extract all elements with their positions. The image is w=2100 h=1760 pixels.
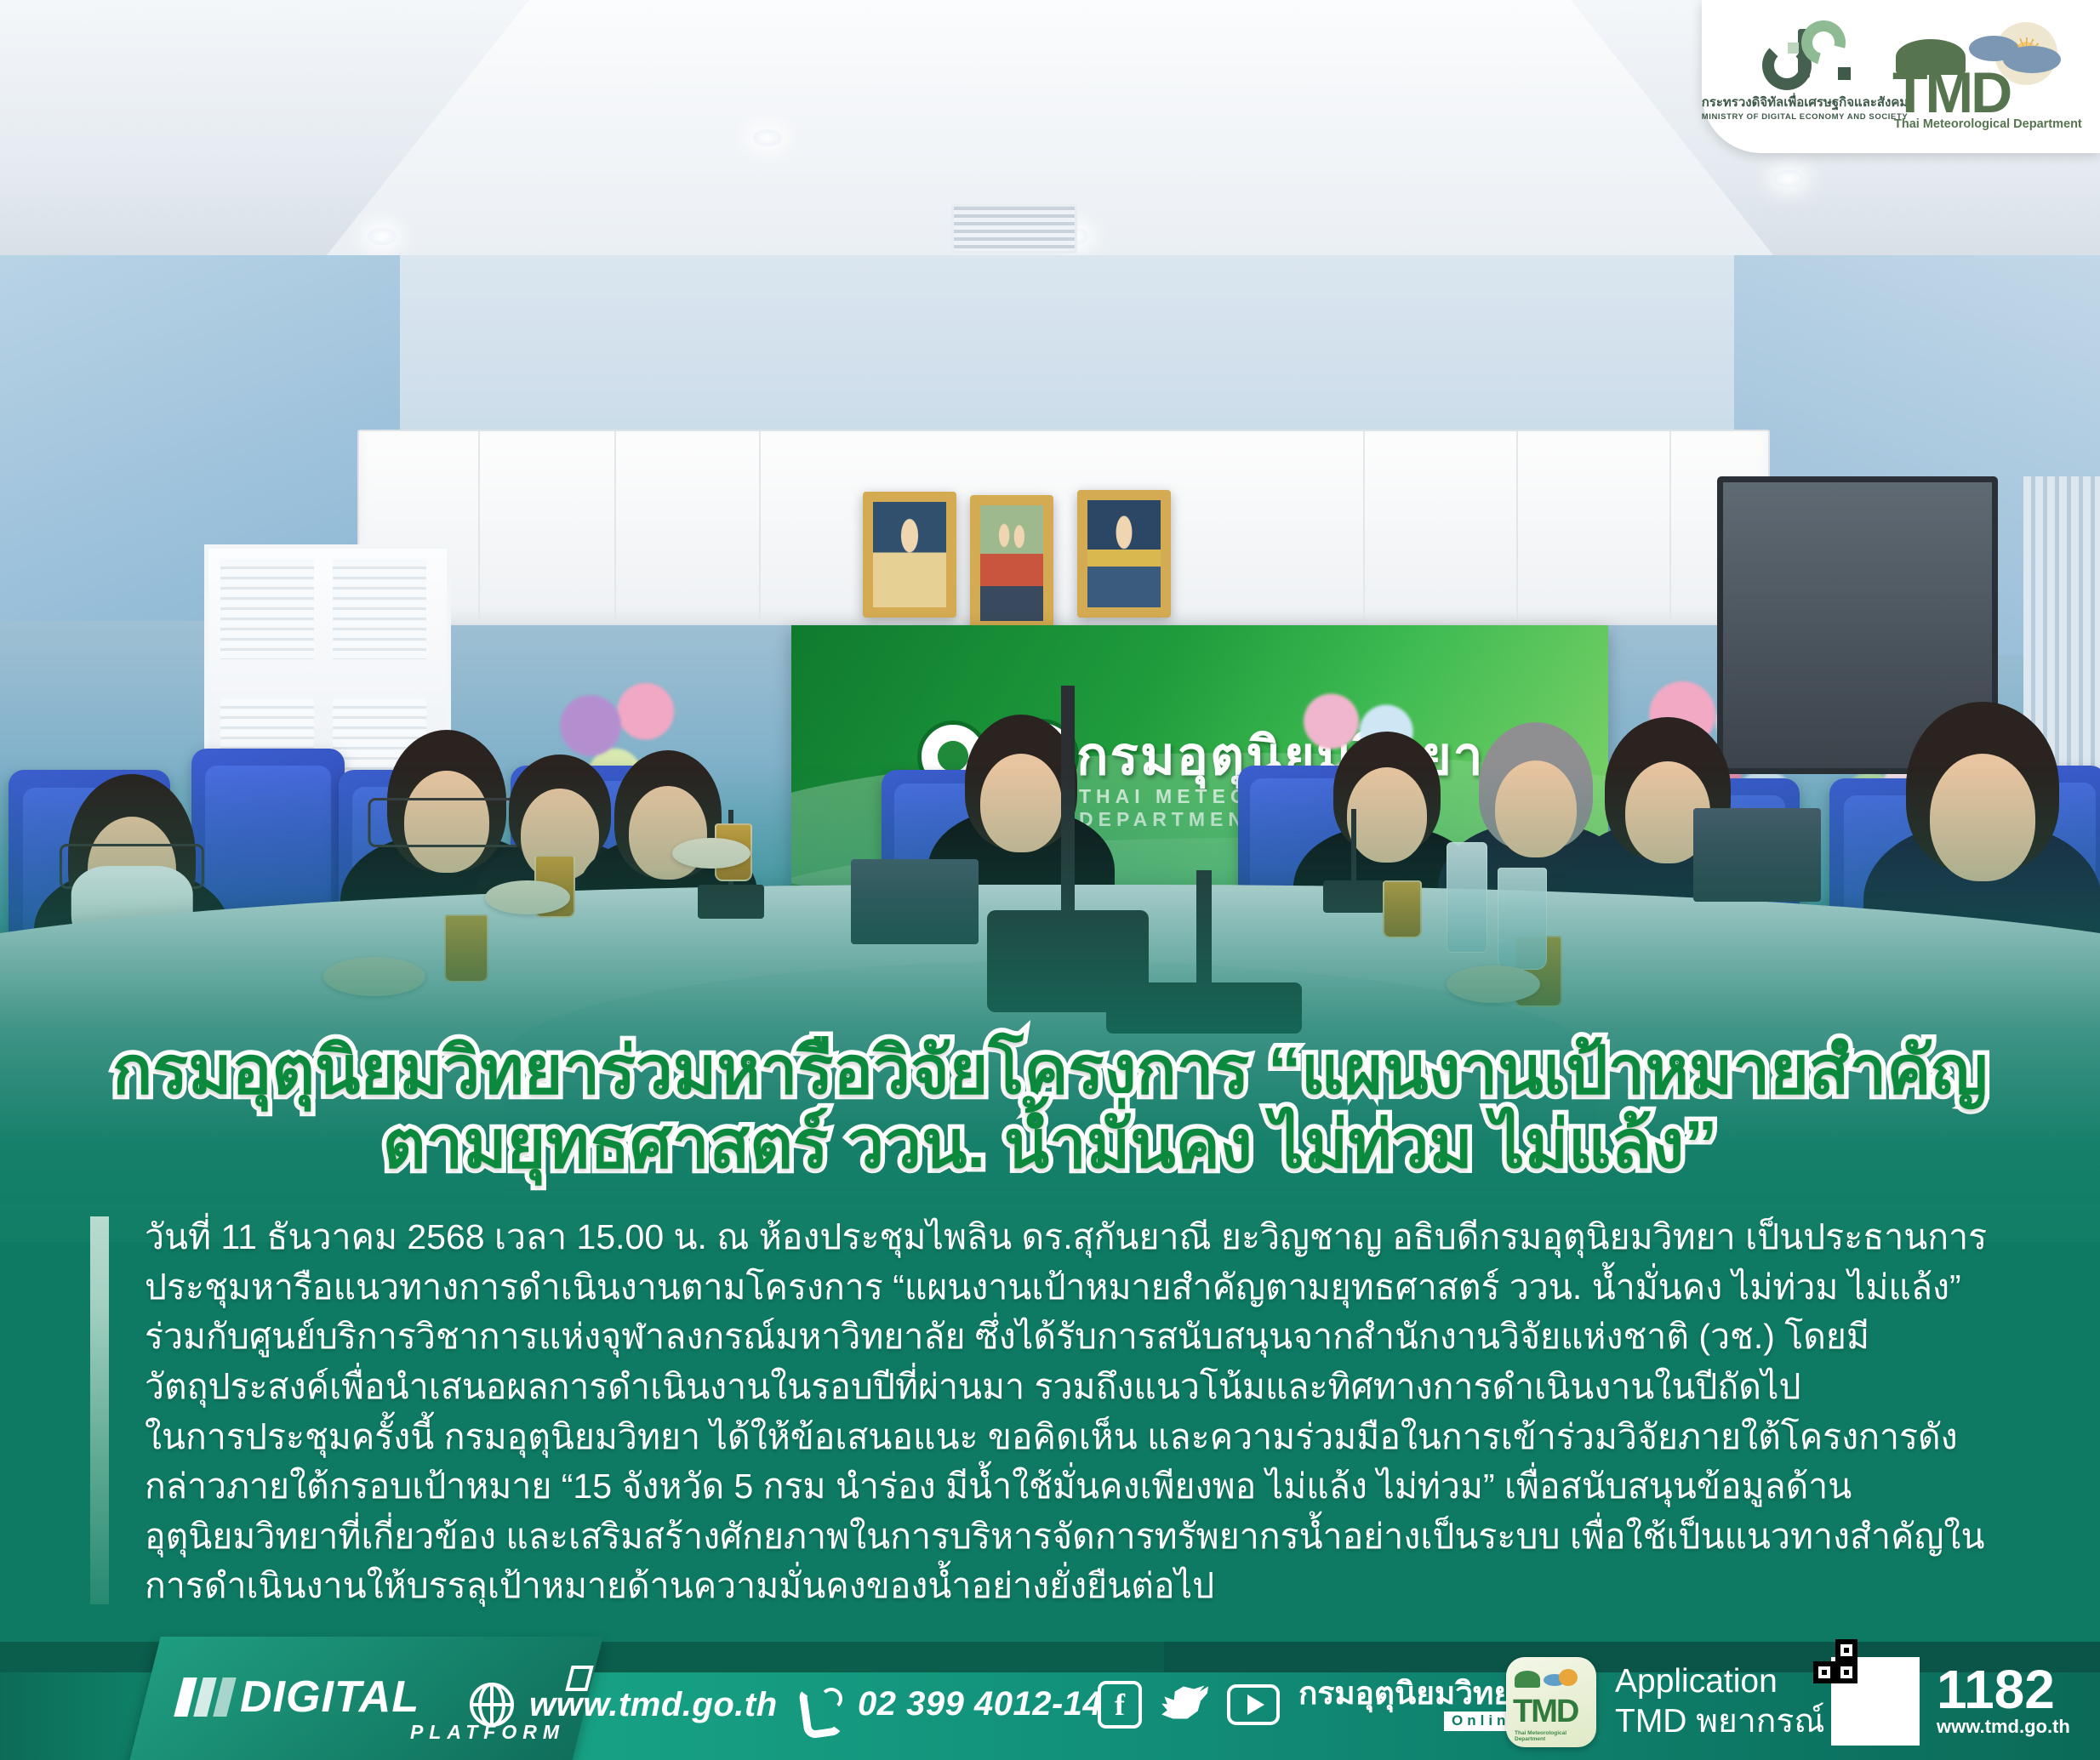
website-label: www.tmd.go.th — [529, 1686, 778, 1724]
phone-item[interactable]: 02 399 4012-14 — [800, 1681, 1102, 1727]
royal-portrait-right — [1077, 490, 1171, 618]
de-logo-thai-label: กระทรวงดิจิทัลเพื่อเศรษฐกิจและสังคม — [1702, 92, 1909, 112]
app-line-1: Application — [1615, 1663, 1778, 1700]
tmd-logo: TMD Thai Meteorological Department — [1891, 20, 2061, 133]
youtube-icon[interactable] — [1227, 1684, 1280, 1725]
digital-wordmark: DIGITAL — [240, 1672, 419, 1723]
de-ministry-logo: กระทรวงดิจิทัลเพื่อเศรษฐกิจและสังคม MINI… — [1741, 20, 1869, 133]
royal-portrait-center — [970, 495, 1053, 631]
hotline-item[interactable]: 1182 www.tmd.go.th — [1831, 1657, 2070, 1746]
headline: กรมอุตุนิยมวิทยาร่วมหารือวิจัยโครงการ “แ… — [0, 1034, 2100, 1182]
app-icon-sub: Thai Meteorological Department — [1515, 1730, 1596, 1742]
tmd-wordmark: TMD — [1892, 60, 2010, 126]
accent-bar — [90, 1216, 109, 1604]
social-item[interactable]: f กรมอุตุนิยมวิทยา Online — [1098, 1677, 1530, 1731]
globe-icon — [470, 1683, 514, 1727]
de-logo-english-label: MINISTRY OF DIGITAL ECONOMY AND SOCIETY — [1702, 112, 1909, 122]
app-line-2: TMD พยากรณ์ — [1615, 1703, 1825, 1740]
body-paragraph-1: วันที่ 11 ธันวาคม 2568 เวลา 15.00 น. ณ ห… — [145, 1212, 2025, 1412]
app-text: Application TMD พยากรณ์ — [1615, 1662, 1825, 1742]
social-thai-label: กรมอุตุนิยมวิทยา — [1298, 1677, 1530, 1709]
hotline-block: 1182 www.tmd.go.th — [1937, 1665, 2070, 1739]
ceiling-light — [1774, 170, 1803, 187]
twitter-icon[interactable] — [1161, 1683, 1208, 1726]
cloud-icon — [2003, 46, 2061, 73]
poster-canvas: กรมอุตุนิยมวิทยา THAI METEOROLOGICAL DEP… — [0, 0, 2100, 1760]
body-copy: วันที่ 11 ธันวาคม 2568 เวลา 15.00 น. ณ ห… — [145, 1212, 2025, 1611]
hotline-number: 1182 — [1937, 1665, 2055, 1715]
de-mark-icon — [1757, 20, 1852, 90]
tmd-online-label: กรมอุตุนิยมวิทยา Online — [1298, 1677, 1530, 1731]
phone-icon — [800, 1681, 842, 1727]
tmd-caption: Thai Meteorological Department — [1894, 117, 2082, 131]
ceiling-light — [368, 228, 397, 245]
cabinet-row — [357, 430, 1770, 625]
phone-label: 02 399 4012-14 — [858, 1685, 1102, 1723]
body-paragraph-2: ในการประชุมครั้งนี้ กรมอุตุนิยมวิทยา ได้… — [145, 1412, 2025, 1612]
footer-bar: DIGITAL PLATFORM www.tmd.go.th 02 399 40… — [0, 1642, 2100, 1760]
headline-line-1: กรมอุตุนิยมวิทยาร่วมหารือวิจัยโครงการ “แ… — [0, 1034, 2100, 1108]
app-promo[interactable]: TMD Thai Meteorological Department Appli… — [1506, 1657, 1825, 1747]
qr-code-icon[interactable] — [1831, 1657, 1920, 1746]
headline-line-2: ตามยุทธศาสตร์ ววน. น้ำมั่นคง ไม่ท่วม ไม่… — [0, 1108, 2100, 1182]
royal-portrait-left — [863, 492, 956, 618]
tmd-app-icon: TMD Thai Meteorological Department — [1506, 1657, 1596, 1747]
app-icon-label: TMD — [1513, 1694, 1578, 1730]
ceiling-light — [753, 129, 782, 146]
logo-badge: กระทรวงดิจิทัลเพื่อเศรษฐกิจและสังคม MINI… — [1702, 0, 2100, 153]
facebook-icon[interactable]: f — [1098, 1681, 1142, 1729]
digital-bars-icon — [174, 1677, 236, 1717]
website-item[interactable]: www.tmd.go.th — [470, 1683, 778, 1727]
air-vent — [951, 204, 1077, 253]
hotline-url: www.tmd.go.th — [1937, 1716, 2070, 1738]
